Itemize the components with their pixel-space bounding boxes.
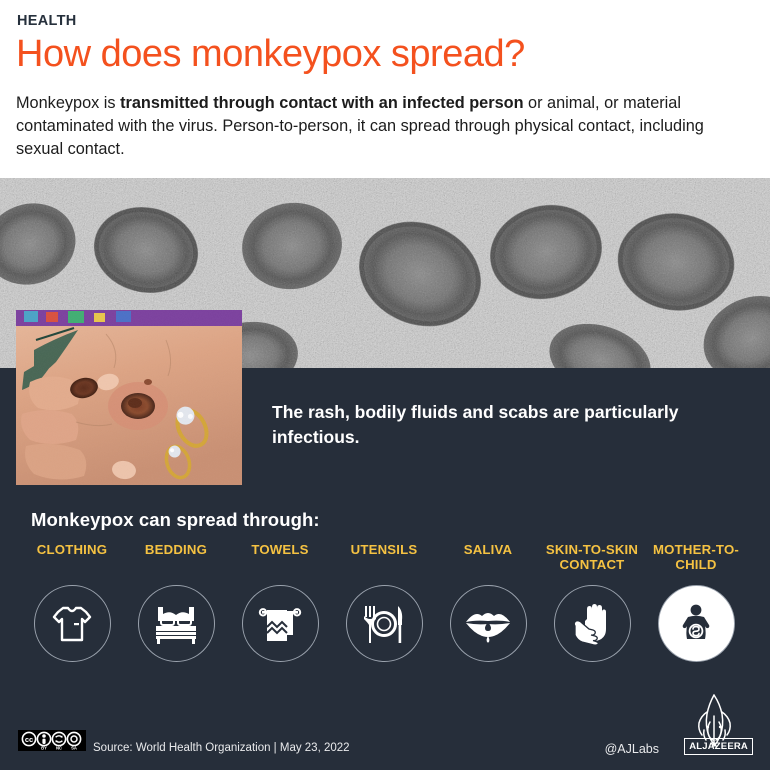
hands-touching-icon: [569, 601, 615, 647]
creative-commons-badge: cc BY NC SA: [18, 730, 86, 751]
route-label-bedding: BEDDING: [124, 542, 228, 572]
route-label-clothing: CLOTHING: [20, 542, 124, 572]
page-title: How does monkeypox spread?: [16, 33, 525, 76]
route-item-mother-to-child[interactable]: MOTHER-TO-CHILD: [644, 542, 748, 662]
towel-icon: [257, 601, 303, 647]
tshirt-icon: [49, 601, 95, 647]
route-item-bedding[interactable]: BEDDING: [124, 542, 228, 662]
route-circle-skin-to-skin[interactable]: [554, 585, 631, 662]
route-circle-utensils[interactable]: [346, 585, 423, 662]
route-item-saliva[interactable]: SALIVA: [436, 542, 540, 662]
svg-text:cc: cc: [25, 735, 33, 744]
route-item-clothing[interactable]: CLOTHING: [20, 542, 124, 662]
route-label-utensils: UTENSILS: [332, 542, 436, 572]
route-label-saliva: SALIVA: [436, 542, 540, 572]
cc-license-icon: cc BY NC SA: [20, 731, 84, 750]
route-circle-bedding[interactable]: [138, 585, 215, 662]
footer: cc BY NC SA Source: World Health Organiz…: [0, 700, 770, 770]
al-jazeera-wordmark: ALJAZEERA: [684, 738, 753, 755]
route-label-skin-to-skin: SKIN-TO-SKIN CONTACT: [540, 542, 644, 572]
bed-icon: [152, 601, 200, 647]
intro-text-emphasis: transmitted through contact with an infe…: [120, 94, 523, 112]
transmission-routes-list: CLOTHING BEDDING: [0, 542, 770, 672]
rash-caption: The rash, bodily fluids and scabs are pa…: [272, 400, 692, 450]
svg-text:BY: BY: [41, 745, 47, 750]
social-handle[interactable]: @AJLabs: [605, 742, 659, 756]
header: HEALTH How does monkeypox spread? Monkey…: [0, 0, 770, 178]
route-circle-towels[interactable]: [242, 585, 319, 662]
rash-photo: [16, 310, 242, 485]
cutlery-plate-icon: [360, 601, 408, 647]
route-circle-saliva[interactable]: [450, 585, 527, 662]
pregnant-woman-icon: [668, 596, 724, 652]
svg-text:SA: SA: [71, 745, 77, 750]
intro-text-lead: Monkeypox is: [16, 94, 120, 112]
route-circle-clothing[interactable]: [34, 585, 111, 662]
spread-section-title: Monkeypox can spread through:: [31, 509, 320, 531]
route-item-towels[interactable]: TOWELS: [228, 542, 332, 662]
route-item-utensils[interactable]: UTENSILS: [332, 542, 436, 662]
route-circle-mother-to-child[interactable]: [658, 585, 735, 662]
intro-paragraph: Monkeypox is transmitted through contact…: [16, 92, 740, 161]
route-item-skin-to-skin[interactable]: SKIN-TO-SKIN CONTACT: [540, 542, 644, 662]
route-label-towels: TOWELS: [228, 542, 332, 572]
svg-text:NC: NC: [56, 745, 62, 750]
rash-photo-graphic: [16, 310, 242, 485]
lips-droplet-icon: [463, 601, 513, 647]
source-attribution: Source: World Health Organization | May …: [93, 742, 350, 754]
section-kicker: HEALTH: [17, 13, 77, 29]
route-label-mother-to-child: MOTHER-TO-CHILD: [644, 542, 748, 572]
